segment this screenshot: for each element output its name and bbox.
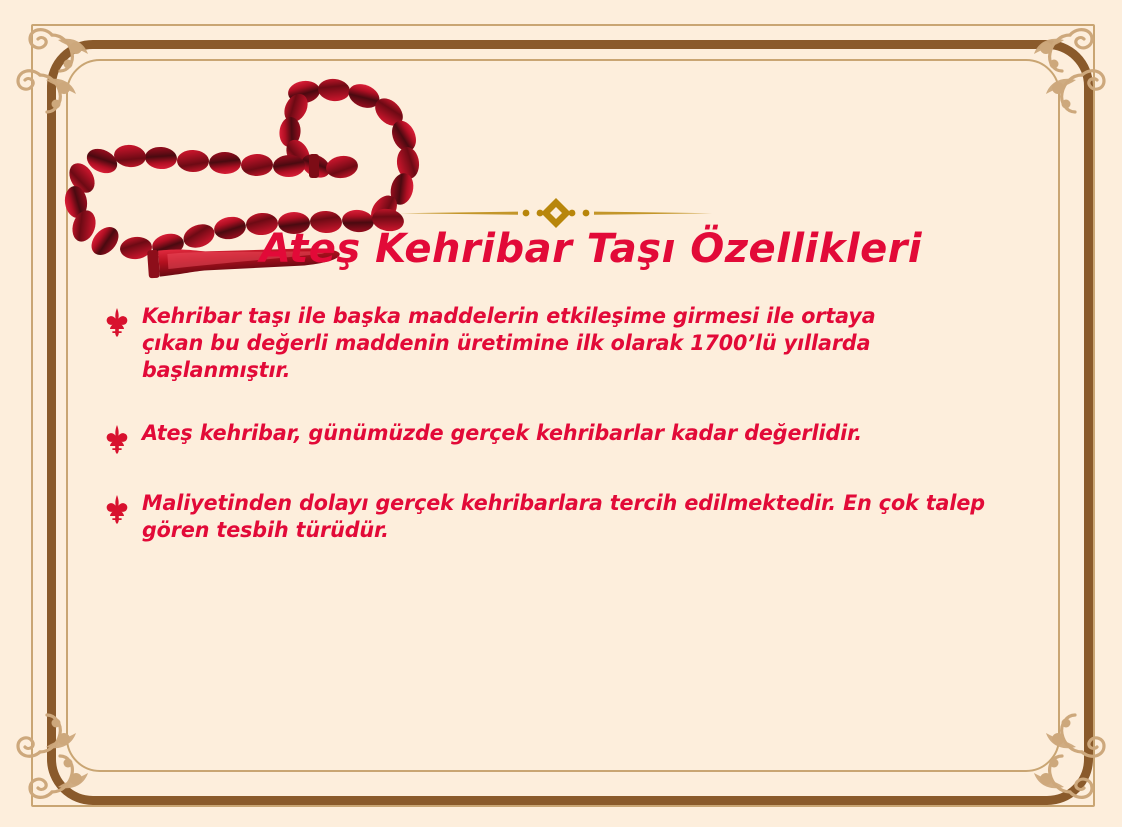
- list-item: Maliyetinden dolayı gerçek kehribarlara …: [104, 490, 1024, 544]
- poster-canvas: Ateş Kehribar Taşı Özellikleri Kehribar …: [0, 0, 1122, 827]
- diamond-divider-ornament: [400, 196, 712, 230]
- fleur-de-lis-icon: [104, 494, 130, 524]
- page-title: Ateş Kehribar Taşı Özellikleri: [0, 226, 1122, 272]
- list-item-text: Ateş kehribar, günümüzde gerçek kehribar…: [142, 420, 987, 447]
- list-item: Ateş kehribar, günümüzde gerçek kehribar…: [104, 420, 1024, 454]
- list-item-text: Kehribar taşı ile başka maddelerin etkil…: [142, 303, 910, 384]
- corner-ornament-bottom-left: [6, 673, 156, 823]
- corner-ornament-top-right: [966, 4, 1116, 154]
- list-item: Kehribar taşı ile başka maddelerin etkil…: [104, 303, 1024, 384]
- fleur-de-lis-icon: [104, 307, 130, 337]
- fleur-de-lis-icon: [104, 424, 130, 454]
- feature-list: Kehribar taşı ile başka maddelerin etkil…: [104, 303, 1024, 568]
- corner-ornament-bottom-right: [966, 673, 1116, 823]
- list-item-text: Maliyetinden dolayı gerçek kehribarlara …: [142, 490, 989, 544]
